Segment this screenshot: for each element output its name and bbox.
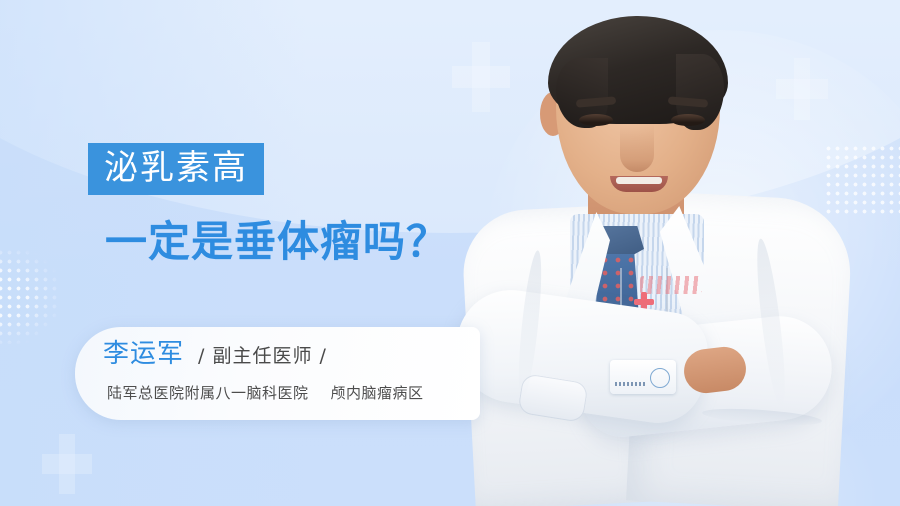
doctor-info-card: 李运军 / 副主任医师 / 陆军总医院附属八一脑科医院 颅内脑瘤病区: [75, 327, 480, 420]
eye-left: [579, 114, 613, 126]
nose: [620, 124, 654, 172]
hair: [548, 16, 728, 124]
doctor-name-row: 李运军 / 副主任医师 /: [103, 339, 470, 379]
page-title: 一定是垂体瘤吗？: [105, 219, 449, 265]
hospital-name: 陆军总医院附属八一脑科医院: [107, 383, 309, 403]
doctor-rank: / 副主任医师 /: [198, 344, 327, 368]
cross-icon-bottom-left: [42, 434, 92, 494]
medical-poster: 泌乳素高 一定是垂体瘤吗？ 李运军 / 副主任医师 / 陆军总医院附属八一脑科医…: [0, 0, 900, 506]
department-name: 颅内脑瘤病区: [331, 383, 424, 403]
mouth: [610, 176, 668, 192]
doctor-name: 李运军: [103, 339, 184, 369]
topic-badge: 泌乳素高: [88, 143, 264, 195]
dot-grid-left: [0, 248, 58, 344]
id-badge: [610, 360, 676, 394]
eye-right: [671, 114, 705, 126]
doctor-portrait: [372, 0, 900, 506]
doctor-info-rows: 李运军 / 副主任医师 / 陆军总医院附属八一脑科医院 颅内脑瘤病区: [103, 339, 470, 403]
doctor-affiliation-row: 陆军总医院附属八一脑科医院 颅内脑瘤病区: [103, 383, 470, 403]
